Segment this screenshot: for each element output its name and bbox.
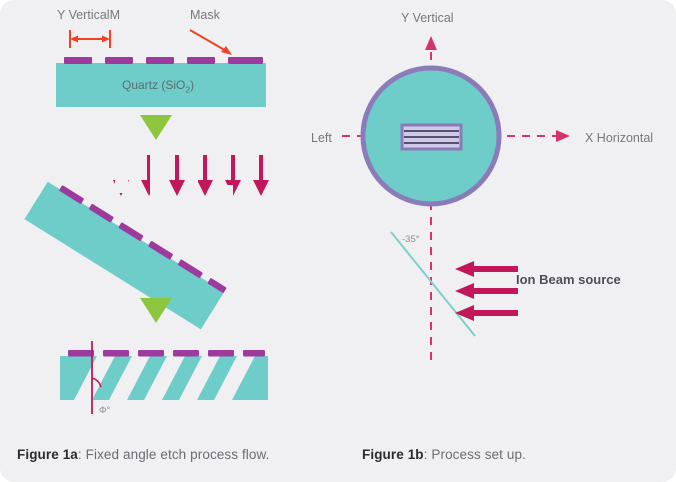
figure-1a-diagram (0, 0, 340, 440)
label-tilt-angle: -35° (402, 234, 420, 245)
beam-arrow (253, 155, 269, 196)
mask-stripes-step1 (64, 57, 256, 64)
trench-gap (220, 185, 233, 253)
mask-callout-arrow (190, 30, 232, 55)
caption-figure-1b: Figure 1b: Process set up. (362, 447, 526, 462)
label-y-axis: Y Vertical (401, 11, 454, 25)
sample-holder (402, 125, 461, 149)
pitch-arrowhead-right (102, 36, 110, 43)
label-left: Left (311, 131, 332, 145)
quartz-text: Quartz (SiO (122, 78, 185, 92)
beam-arrow (169, 155, 185, 196)
beam-arrow (197, 155, 213, 196)
quartz-paren: ) (190, 78, 194, 92)
label-mask: Mask (190, 8, 220, 22)
mask-stripe (138, 350, 164, 357)
mask-stripe (68, 350, 94, 357)
pitch-arrowhead-left (70, 36, 78, 43)
process-step-arrow-1 (140, 115, 172, 140)
pitch-dimension (70, 30, 110, 48)
x-axis-arrowhead (556, 130, 570, 142)
tilt-angle-line (391, 232, 475, 336)
mask-stripe (173, 350, 199, 357)
mask-stripe (146, 57, 174, 64)
mask-arrow-line (190, 30, 228, 52)
ion-beam-arrows (455, 261, 518, 321)
caption-1a-text: : Fixed angle etch process flow. (78, 447, 270, 462)
mask-arrowhead (221, 46, 232, 55)
caption-figure-1a: Figure 1a: Fixed angle etch process flow… (17, 447, 269, 462)
trench-gap (80, 113, 93, 173)
label-etch-angle: Φ° (99, 405, 110, 416)
label-ion-beam-source: Ion Beam source (516, 272, 621, 287)
mask-stripe (187, 57, 215, 64)
label-quartz: Quartz (SiO2) (122, 78, 194, 94)
mask-stripe (208, 350, 234, 357)
ion-arrow (455, 283, 518, 299)
caption-1a-bold: Figure 1a (17, 447, 78, 462)
mask-stripe (105, 57, 133, 64)
captions: Figure 1a: Fixed angle etch process flow… (0, 440, 676, 482)
figure-1b-diagram (340, 0, 676, 440)
trench-gap (115, 131, 128, 193)
label-pitch: Y VerticalM (57, 8, 120, 22)
trench-gap (185, 167, 198, 233)
mask-stripe-last (237, 57, 263, 64)
mask-stripe-first (64, 57, 92, 64)
mask-stripe (103, 350, 129, 357)
y-axis-arrowhead (425, 36, 437, 50)
caption-1b-bold: Figure 1b (362, 447, 424, 462)
trench-gap (150, 149, 163, 213)
step3-etched-substrate (60, 341, 268, 414)
process-step-arrow-2 (140, 298, 172, 323)
label-x-axis: X Horizontal (585, 131, 653, 145)
ion-arrow (455, 261, 518, 277)
mask-stripes-step3 (68, 350, 265, 357)
caption-1b-text: : Process set up. (424, 447, 526, 462)
ion-arrow (455, 305, 518, 321)
figure-card: Y VerticalM Mask Quartz (SiO2) Φ° (0, 0, 676, 482)
mask-stripe (243, 350, 265, 357)
